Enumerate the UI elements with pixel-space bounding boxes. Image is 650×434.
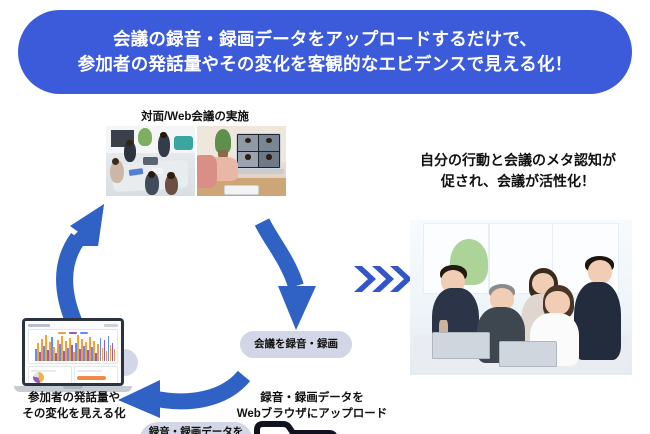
dashboard-bar xyxy=(108,336,110,361)
dashboard-bar xyxy=(110,345,112,361)
banner-line-2: 参加者の発話量やその変化を客観的なエビデンスで見える化！ xyxy=(78,52,573,77)
dashboard-card-pie xyxy=(28,366,72,386)
dashboard-bar xyxy=(97,344,99,361)
pill-upload-data: 録音・録画データを アップロード xyxy=(140,422,252,434)
laptop-dashboard-icon xyxy=(14,318,132,400)
caption-folder-line-1: 録音・録画データを xyxy=(226,390,398,406)
dashboard-bar xyxy=(112,343,114,361)
team-photo-laptop-left xyxy=(432,332,490,360)
header-banner: 会議の録音・録画データをアップロードするだけで、 参加者の発話量やその変化を客観… xyxy=(18,10,632,94)
team-photo xyxy=(410,220,632,375)
arrow-review-up xyxy=(64,204,104,322)
right-headline-line-2: 促され、会議が活性化！ xyxy=(390,171,646,192)
pill-record-meeting: 会議を録音・録画 xyxy=(240,331,352,358)
chevron-right-triple-icon xyxy=(352,262,414,296)
dashboard-bar xyxy=(114,349,116,361)
caption-laptop-line-2: その変化を見える化 xyxy=(2,406,146,422)
dashboard-bar xyxy=(104,340,106,361)
workflow-cycle-diagram: 対面/Web会議の実施 xyxy=(0,100,400,434)
pill-record-label: 会議を録音・録画 xyxy=(254,338,338,352)
dashboard-bar-chart xyxy=(31,335,115,361)
arrow-record-down xyxy=(262,222,316,330)
caption-laptop-line-1: 参加者の発話量や xyxy=(2,390,146,406)
banner-line-1: 会議の録音・録画データをアップロードするだけで、 xyxy=(113,27,537,52)
in-person-meeting-photo xyxy=(106,126,195,196)
right-headline-line-1: 自分の行動と会議のメタ認知が xyxy=(390,150,646,171)
web-meeting-photo xyxy=(197,126,286,196)
pill-upload-label-1: 録音・録画データを xyxy=(149,426,244,434)
infographic-page: 会議の録音・録画データをアップロードするだけで、 参加者の発話量やその変化を客観… xyxy=(0,0,650,434)
dashboard-bar xyxy=(106,351,108,361)
caption-folder-line-2: Webブラウザにアップロード xyxy=(226,406,398,422)
laptop-screen xyxy=(22,318,124,386)
team-photo-laptop-right xyxy=(499,341,557,367)
dashboard-card-bar xyxy=(74,366,118,386)
caption-folder: 録音・録画データを Webブラウザにアップロード xyxy=(226,390,398,423)
meeting-photo-pair xyxy=(106,126,286,196)
stage-title-meeting: 対面/Web会議の実施 xyxy=(100,108,290,124)
right-headline: 自分の行動と会議のメタ認知が 促され、会議が活性化！ xyxy=(390,150,646,192)
dashboard-bar xyxy=(100,338,102,361)
caption-laptop: 参加者の発話量や その変化を見える化 xyxy=(2,390,146,423)
dashboard-bar xyxy=(102,348,104,361)
dashboard-mockup xyxy=(25,321,121,383)
dashboard-legend xyxy=(31,332,115,334)
